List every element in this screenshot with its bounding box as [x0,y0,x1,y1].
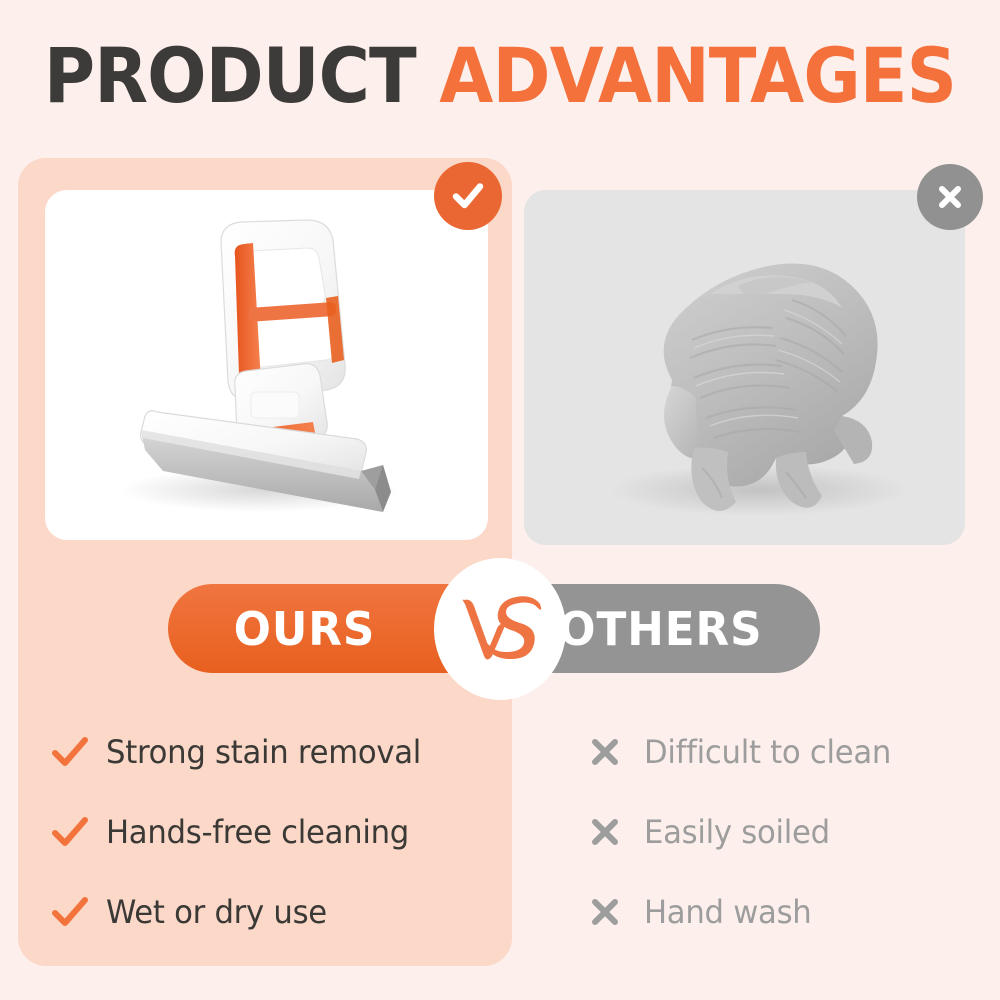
list-item: Strong stain removal [52,712,492,792]
ours-product-card [45,190,488,540]
list-item: Difficult to clean [590,712,970,792]
list-item: Wet or dry use [52,872,492,952]
ours-pill-label: OURS [234,602,376,656]
product-squeegee-image [45,190,488,540]
x-circle-icon [917,164,983,230]
others-product-card [524,190,965,545]
list-item-label: Wet or dry use [106,893,327,931]
check-circle-icon [434,162,502,230]
list-item-label: Hand wash [644,893,812,931]
page-title: PRODUCT ADVANTAGES [40,38,960,114]
page-title-advantages: ADVANTAGES [439,31,956,120]
list-item: Easily soiled [590,792,970,872]
check-icon [52,737,106,767]
check-icon [52,897,106,927]
versus-badge [434,558,566,700]
x-icon [590,897,644,927]
list-item-label: Difficult to clean [644,733,891,771]
vs-script-icon [448,584,552,674]
check-icon [52,817,106,847]
x-icon [590,817,644,847]
ours-feature-list: Strong stain removal Hands-free cleaning… [52,712,492,952]
list-item-label: Strong stain removal [106,733,421,771]
page-title-product: PRODUCT [44,31,416,120]
gray-towel-image [524,190,965,545]
list-item-label: Hands-free cleaning [106,813,409,851]
others-feature-list: Difficult to clean Easily soiled Hand wa… [590,712,970,952]
list-item: Hands-free cleaning [52,792,492,872]
others-pill-label: OTHERS [558,602,762,656]
x-icon [590,737,644,767]
list-item: Hand wash [590,872,970,952]
list-item-label: Easily soiled [644,813,830,851]
